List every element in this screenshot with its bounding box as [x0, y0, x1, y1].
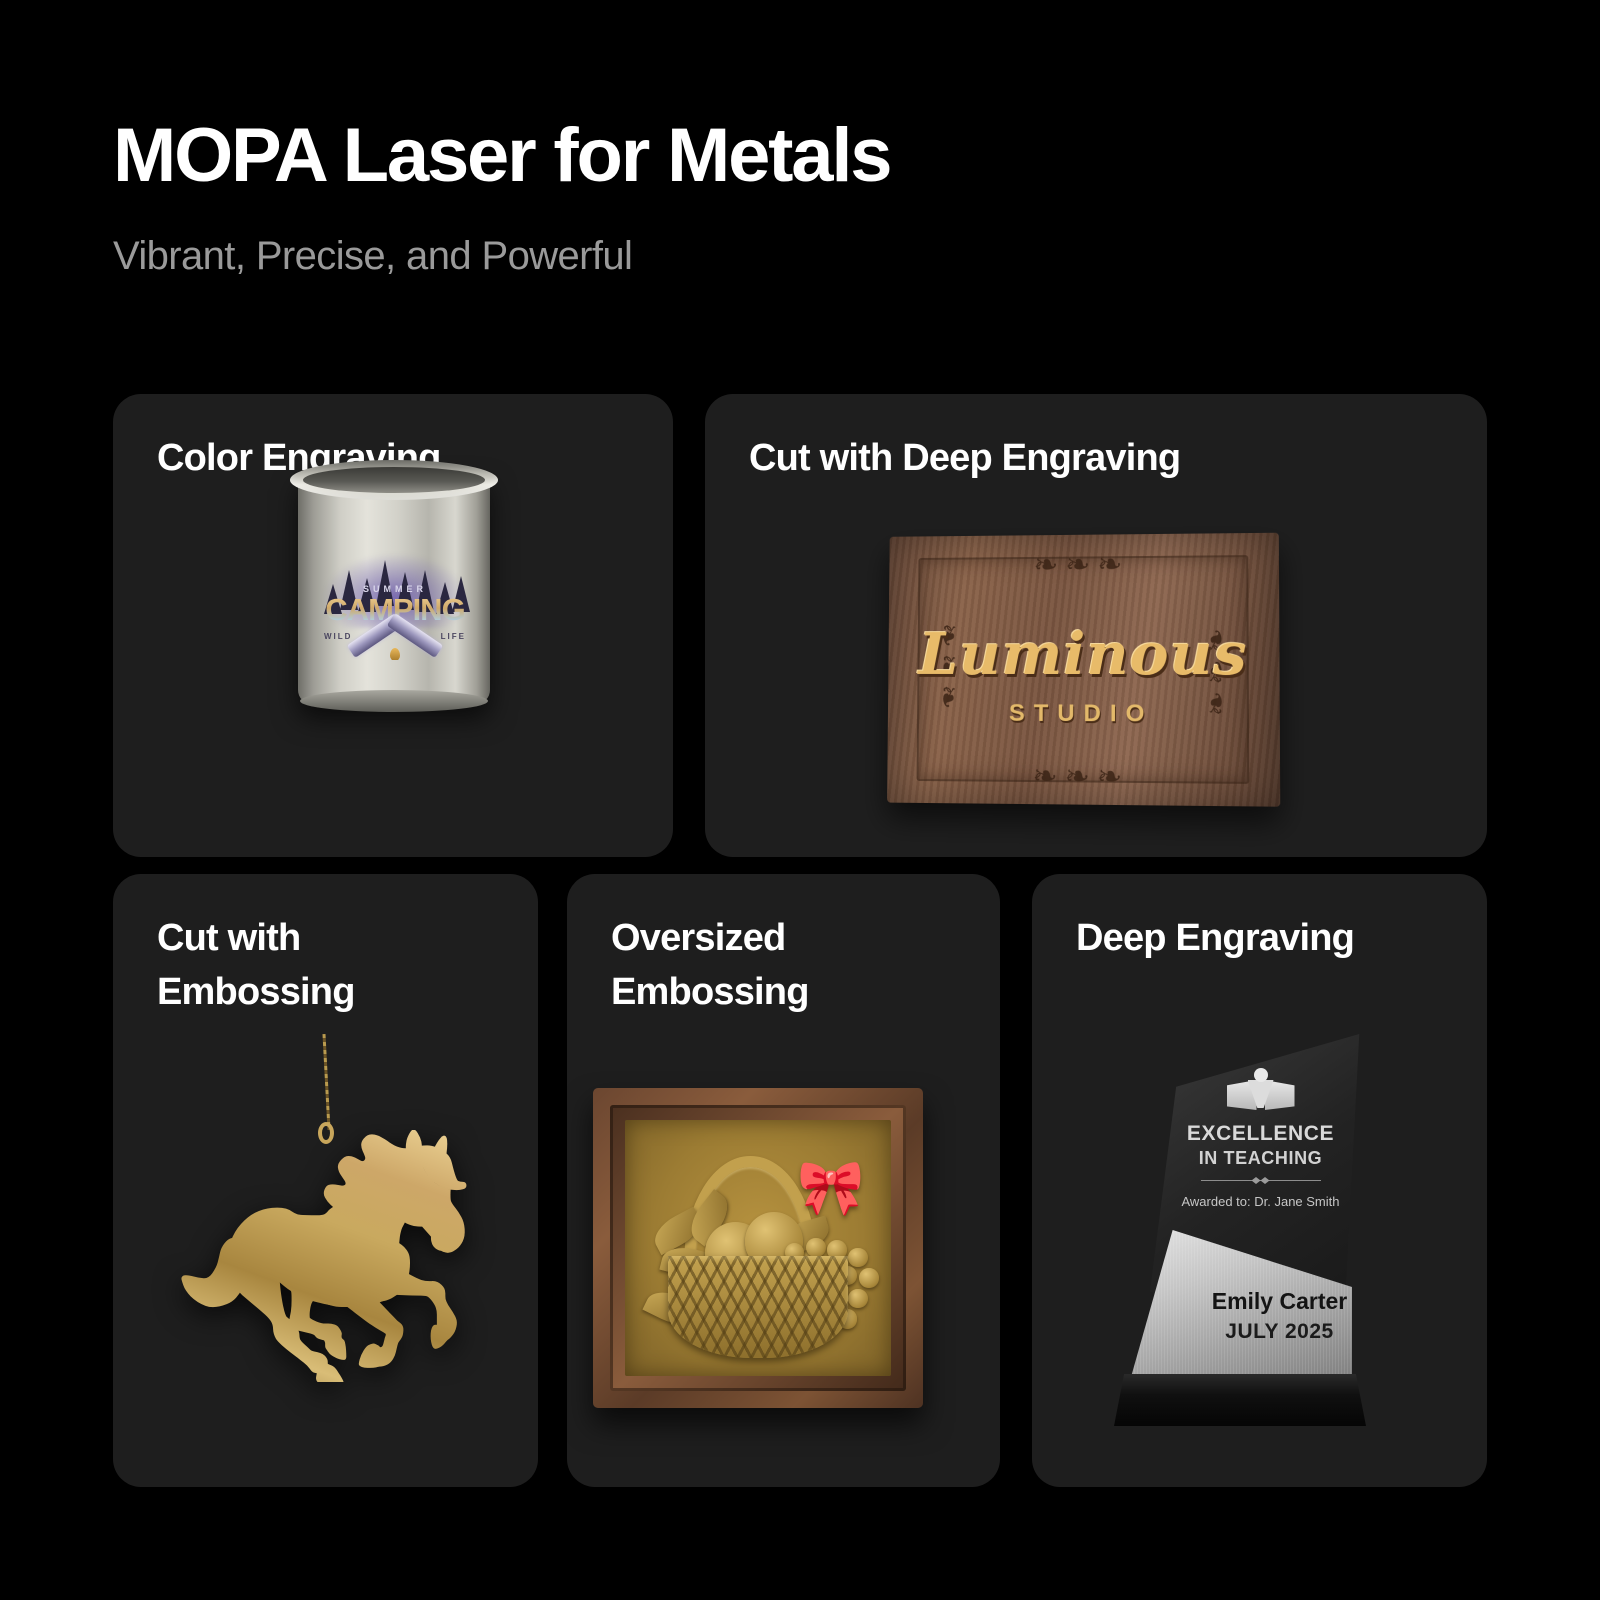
mug-text-wild: WILD [324, 632, 352, 641]
pegasus-pendant-image: 🐎 [143, 1034, 508, 1464]
trophy-base [1114, 1374, 1366, 1426]
ribbon-bow-icon: 🎀 [797, 1161, 864, 1215]
grape-icon [806, 1238, 826, 1257]
book-figure-head [1254, 1068, 1268, 1082]
mug-rim-interior [303, 467, 485, 493]
wood-plaque-image: ❧❧❧ ❧❧❧ ❧❧❧ ❧❧❧ Luminous STUDIO [885, 534, 1277, 804]
card-title-oversized-embossing: Oversized Embossing [611, 912, 970, 1020]
card-deep-engraving[interactable]: Deep Engraving EXCELLENCE IN TEACHING Aw… [1032, 874, 1487, 1487]
crystal-trophy-image: EXCELLENCE IN TEACHING Awarded to: Dr. J… [1088, 1034, 1433, 1464]
trophy-heading-line-2: IN TEACHING [1088, 1148, 1433, 1169]
carved-relief-panel: 🎀 [625, 1120, 891, 1376]
open-book-icon [1227, 1068, 1295, 1112]
plaque-script-name: Luminous [888, 619, 1279, 688]
trophy-heading-line-1: EXCELLENCE [1088, 1122, 1433, 1146]
camping-mug-image: SUMMER CAMPING WILD LIFE [276, 454, 511, 719]
card-color-engraving[interactable]: Color Engraving SUMMER CAMPING WILD LIFE [113, 394, 673, 857]
trophy-divider-ornament [1201, 1180, 1321, 1181]
card-title-line-1: Oversized [611, 912, 970, 966]
mug-text-life: LIFE [441, 632, 466, 641]
trophy-date: JULY 2025 [1140, 1320, 1419, 1344]
pegasus-horse-icon: 🐎 [169, 1130, 483, 1382]
page-header: MOPA Laser for Metals Vibrant, Precise, … [113, 118, 1493, 279]
woven-basket [668, 1256, 849, 1358]
plaque-body: ❧❧❧ ❧❧❧ ❧❧❧ ❧❧❧ Luminous STUDIO [887, 533, 1280, 807]
grape-icon [859, 1268, 879, 1287]
wood-picture-frame: 🎀 [593, 1088, 923, 1408]
plaque-sub-name: STUDIO [888, 700, 1280, 729]
trophy-awarded-to-text: Awarded to: Dr. Jane Smith [1088, 1194, 1433, 1209]
mug-bottom [300, 690, 488, 712]
card-title-cut-with-embossing: Cut with Embossing [157, 912, 508, 1020]
grape-icon [848, 1248, 868, 1267]
card-title-line-2: Embossing [157, 966, 508, 1020]
flourish-ornament-icon: ❧❧❧ [1033, 550, 1129, 581]
card-title-line-2: Embossing [611, 966, 970, 1020]
flourish-ornament-icon: ❧❧❧ [1033, 762, 1130, 793]
fruit-basket-relief-image: 🎀 [593, 1088, 923, 1408]
card-cut-with-deep-engraving[interactable]: Cut with Deep Engraving ❧❧❧ ❧❧❧ ❧❧❧ ❧❧❧ … [705, 394, 1487, 857]
trophy-recipient-name: Emily Carter [1140, 1288, 1419, 1315]
card-title-cut-with-deep-engraving: Cut with Deep Engraving [749, 432, 1457, 486]
card-title-line-1: Cut with [157, 912, 508, 966]
page-title: MOPA Laser for Metals [113, 118, 1493, 194]
card-oversized-embossing[interactable]: Oversized Embossing 🎀 [567, 874, 1000, 1487]
card-cut-with-embossing[interactable]: Cut with Embossing 🐎 [113, 874, 538, 1487]
card-title-deep-engraving: Deep Engraving [1076, 912, 1457, 966]
mug-printed-artwork: SUMMER CAMPING WILD LIFE [320, 532, 470, 660]
page-subtitle: Vibrant, Precise, and Powerful [113, 234, 1493, 279]
campfire-flame-icon [390, 648, 400, 660]
grape-icon [848, 1289, 868, 1308]
